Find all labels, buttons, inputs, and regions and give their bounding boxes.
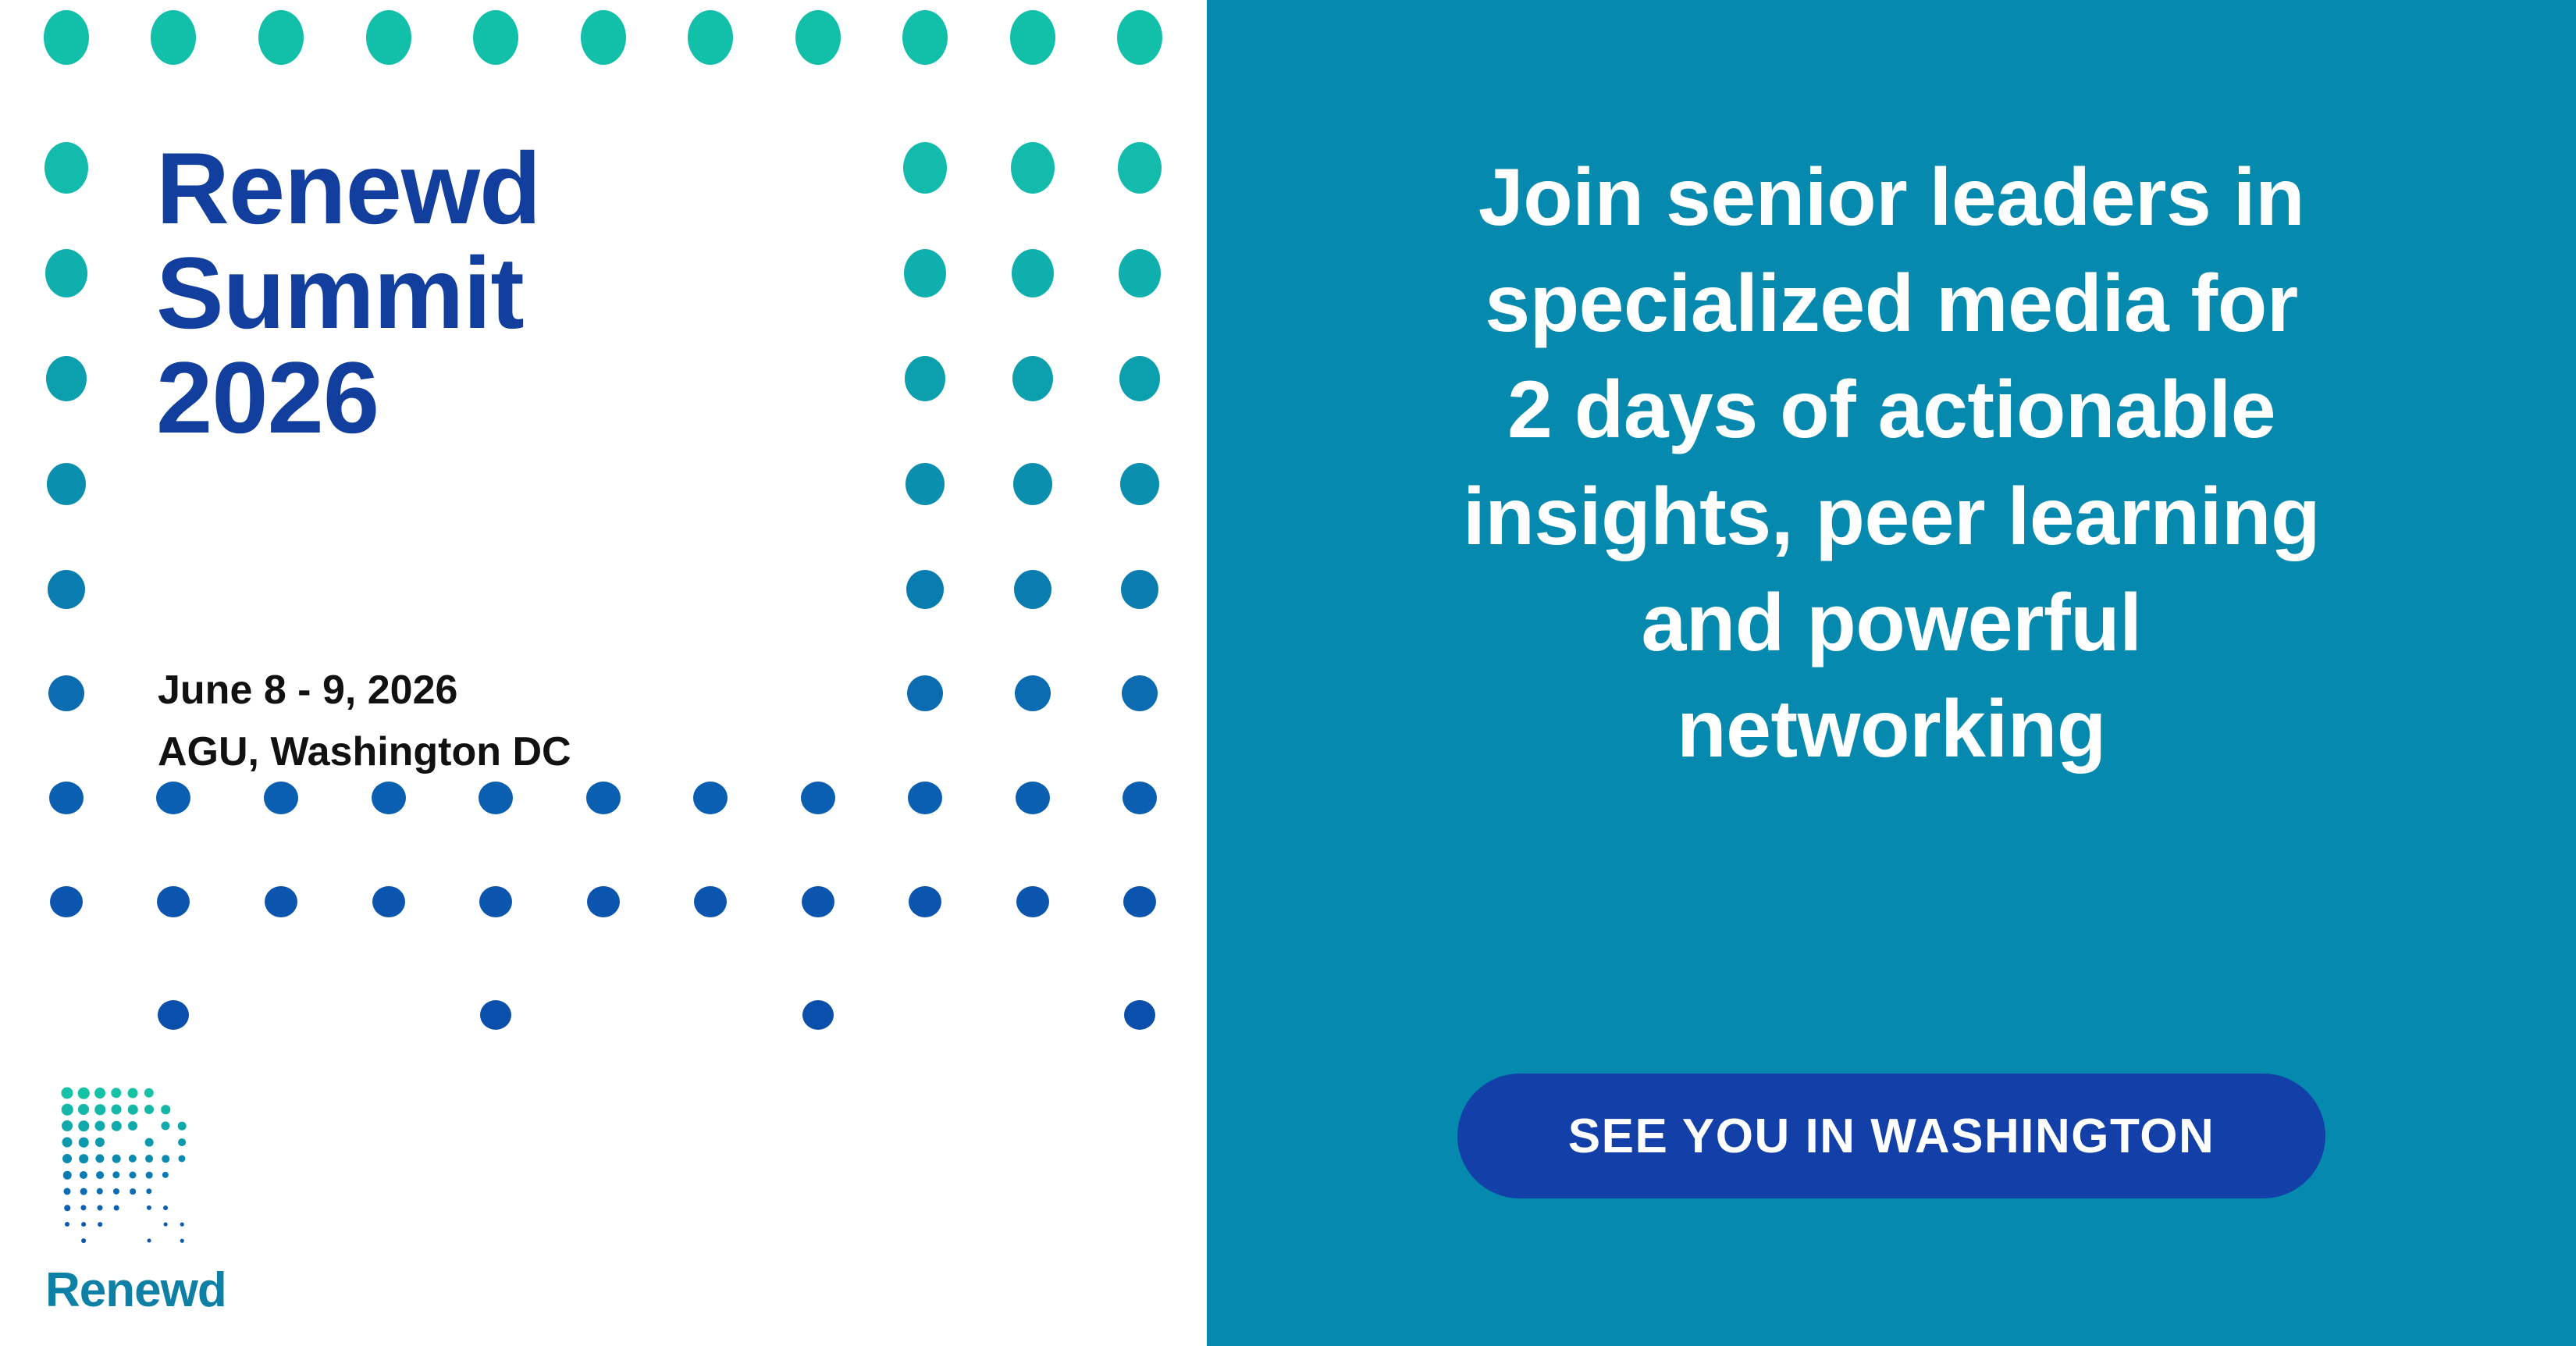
grid-dot: [1012, 249, 1054, 297]
grid-dot: [1016, 782, 1050, 814]
grid-dot: [44, 142, 88, 194]
logo-dot: [96, 1171, 104, 1179]
event-details: June 8 - 9, 2026 AGU, Washington DC: [158, 660, 571, 783]
logo-dot: [62, 1120, 73, 1131]
logo-dot: [144, 1105, 154, 1114]
grid-dot: [49, 782, 84, 814]
grid-dot: [258, 10, 304, 65]
logo-dot: [62, 1154, 72, 1163]
logo-dot: [180, 1239, 184, 1243]
pitch-line-5: and powerful: [1322, 570, 2461, 676]
grid-dot: [905, 356, 945, 401]
renewd-summit-banner: RenewdSummit2026 June 8 - 9, 2026 AGU, W…: [0, 0, 2576, 1346]
logo-dot: [81, 1222, 86, 1227]
pitch-line-4: insights, peer learning: [1322, 464, 2461, 570]
grid-dot: [1117, 10, 1162, 65]
grid-dot: [1123, 782, 1157, 814]
logo-dot: [112, 1105, 122, 1115]
grid-dot: [904, 249, 946, 297]
logo-dot: [63, 1171, 72, 1180]
grid-dot: [158, 1000, 189, 1030]
logo-dot: [95, 1121, 105, 1131]
logo-dot: [145, 1155, 153, 1163]
pitch-line-3: 2 days of actionable: [1322, 357, 2461, 463]
grid-dot: [1013, 463, 1052, 505]
logo-dot: [78, 1120, 89, 1131]
grid-dot: [372, 782, 406, 814]
logo-dot: [148, 1239, 151, 1243]
grid-dot: [902, 10, 948, 65]
grid-dot: [48, 570, 85, 609]
logo-dot: [79, 1154, 88, 1163]
logo-dot: [94, 1088, 105, 1099]
logo-dot: [130, 1172, 137, 1179]
right-panel: Join senior leaders inspecialized media …: [1207, 0, 2576, 1346]
logo-dot: [78, 1104, 89, 1115]
grid-dot: [906, 570, 944, 609]
logo-dot: [81, 1238, 86, 1243]
left-panel: RenewdSummit2026 June 8 - 9, 2026 AGU, W…: [0, 0, 1207, 1346]
grid-dot: [1119, 249, 1161, 297]
logo-dot: [62, 1138, 73, 1148]
logo-dot: [178, 1122, 187, 1131]
logo-dot: [161, 1121, 169, 1130]
grid-dot: [1012, 356, 1053, 401]
logo-dot: [94, 1104, 105, 1115]
grid-dot: [1118, 142, 1162, 194]
grid-dot: [366, 10, 411, 65]
logo-dot: [112, 1171, 119, 1178]
grid-dot: [479, 886, 512, 917]
grid-dot: [50, 886, 83, 917]
grid-dot: [909, 886, 941, 917]
renewd-wordmark: Renewd: [45, 1266, 272, 1315]
event-venue: AGU, Washington DC: [158, 721, 571, 783]
logo-dot: [162, 1155, 169, 1163]
grid-dot: [264, 782, 298, 814]
logo-dot: [97, 1188, 103, 1195]
event-title-line-2: Summit: [156, 241, 859, 346]
logo-dot: [62, 1088, 73, 1099]
grid-dot: [801, 782, 835, 814]
grid-dot: [587, 886, 620, 917]
grid-dot: [44, 10, 89, 65]
grid-dot: [907, 675, 943, 711]
logo-dot: [180, 1223, 184, 1227]
logo-dot: [98, 1205, 103, 1211]
grid-dot: [1015, 675, 1051, 711]
grid-dot: [372, 886, 405, 917]
grid-dot: [693, 782, 728, 814]
grid-dot: [47, 463, 86, 505]
logo-dot: [162, 1172, 169, 1178]
grid-dot: [156, 782, 190, 814]
grid-dot: [586, 782, 621, 814]
logo-dot: [114, 1205, 119, 1211]
grid-dot: [48, 675, 84, 711]
see-you-in-washington-button[interactable]: SEE YOU IN WASHINGTON: [1457, 1074, 2325, 1198]
logo-dot: [95, 1138, 105, 1147]
grid-dot: [581, 10, 626, 65]
event-title-line-3: 2026: [156, 346, 859, 450]
pitch-line-1: Join senior leaders in: [1322, 144, 2461, 251]
logo-dot: [146, 1188, 151, 1194]
grid-dot: [802, 886, 834, 917]
logo-dot: [113, 1188, 119, 1195]
logo-dot: [128, 1105, 138, 1115]
grid-dot: [1014, 570, 1051, 609]
logo-dot: [64, 1205, 70, 1211]
logo-dot: [111, 1088, 121, 1098]
grid-dot: [688, 10, 733, 65]
grid-dot: [46, 356, 87, 401]
grid-dot: [157, 886, 190, 917]
grid-dot: [795, 10, 841, 65]
grid-dot: [906, 463, 945, 505]
logo-dot: [112, 1155, 121, 1163]
grid-dot: [1121, 570, 1158, 609]
logo-dot: [80, 1205, 86, 1210]
grid-dot: [903, 142, 947, 194]
logo-dot: [161, 1105, 170, 1114]
grid-dot: [1010, 10, 1055, 65]
grid-dot: [1119, 356, 1160, 401]
grid-dot: [1122, 675, 1158, 711]
logo-dot: [130, 1188, 136, 1195]
logo-dot: [112, 1121, 122, 1131]
logo-dot: [64, 1188, 71, 1195]
logo-dot: [80, 1171, 87, 1179]
grid-dot: [479, 782, 513, 814]
grid-dot: [480, 1000, 511, 1030]
grid-dot: [1016, 886, 1049, 917]
logo-dot: [62, 1104, 73, 1116]
logo-dot: [145, 1138, 154, 1147]
logo-dot: [95, 1154, 104, 1163]
grid-dot: [802, 1000, 834, 1030]
grid-dot: [1124, 1000, 1155, 1030]
logo-dot: [164, 1223, 168, 1227]
renewd-r-dot-logo-icon: [55, 1082, 211, 1262]
pitch-line-6: networking: [1322, 676, 2461, 782]
logo-dot: [144, 1088, 154, 1098]
event-title-line-1: Renewd: [156, 137, 859, 241]
renewd-logo[interactable]: Renewd: [45, 1082, 272, 1315]
grid-dot: [1011, 142, 1055, 194]
logo-dot: [178, 1138, 186, 1146]
logo-dot: [128, 1121, 137, 1131]
event-date: June 8 - 9, 2026: [158, 660, 571, 721]
logo-dot: [147, 1205, 151, 1210]
grid-dot: [473, 10, 518, 65]
logo-dot: [79, 1138, 89, 1148]
grid-dot: [694, 886, 727, 917]
logo-dot: [78, 1088, 90, 1099]
logo-dot: [129, 1155, 137, 1163]
event-title: RenewdSummit2026: [156, 137, 859, 450]
logo-dot: [98, 1222, 102, 1227]
logo-dot: [65, 1222, 69, 1227]
grid-dot: [45, 249, 87, 297]
logo-dot: [178, 1155, 185, 1162]
pitch-line-2: specialized media for: [1322, 251, 2461, 357]
grid-dot: [151, 10, 196, 65]
grid-dot: [908, 782, 942, 814]
logo-dot: [80, 1188, 87, 1195]
pitch-headline: Join senior leaders inspecialized media …: [1322, 144, 2461, 782]
grid-dot: [1120, 463, 1159, 505]
logo-dot: [163, 1205, 168, 1210]
grid-dot: [1123, 886, 1156, 917]
grid-dot: [265, 886, 297, 917]
logo-dot: [146, 1172, 153, 1179]
logo-dot: [128, 1088, 138, 1099]
